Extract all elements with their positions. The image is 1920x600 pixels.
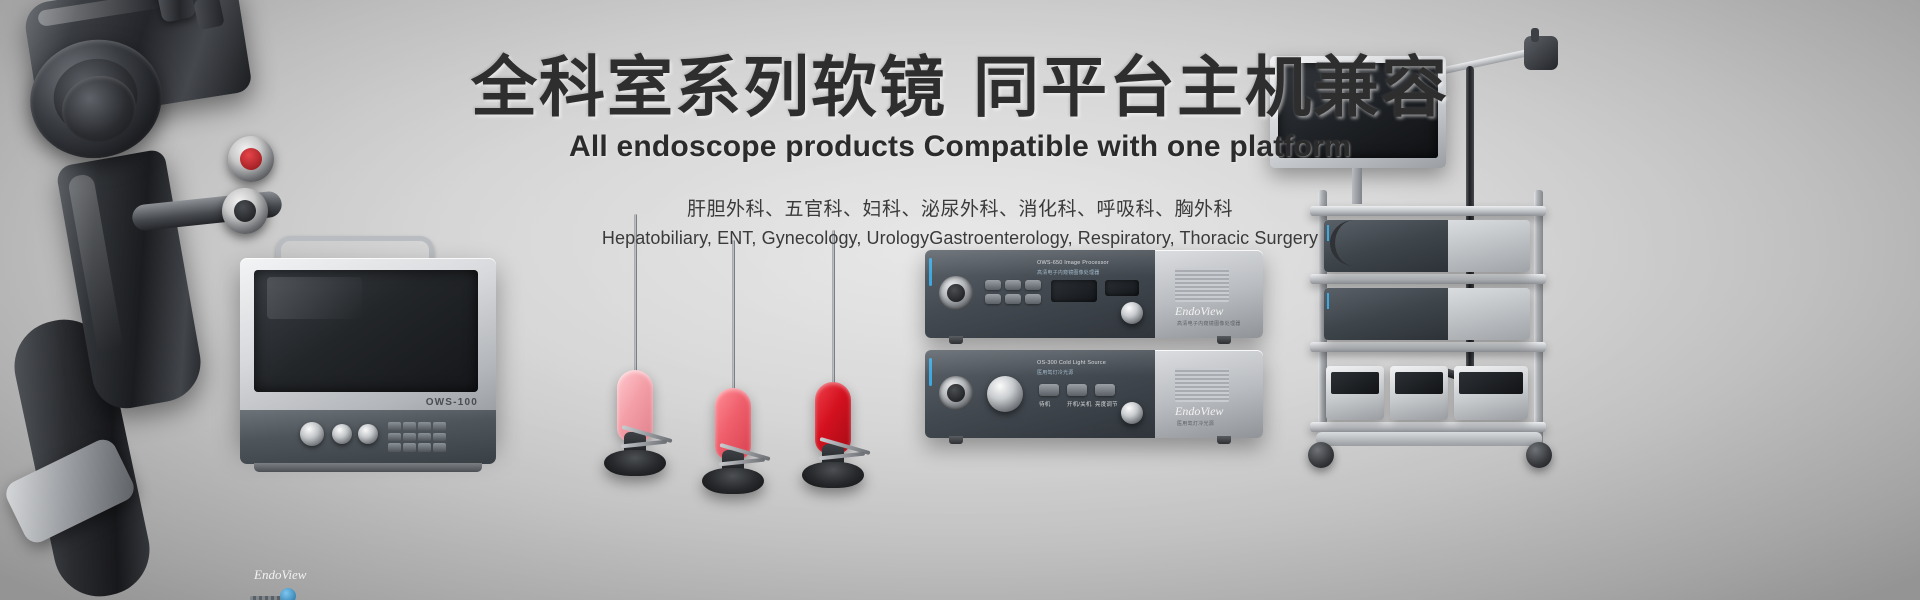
- light-source-button-label-2: 开机/关机: [1067, 400, 1092, 408]
- processor-button-4: [985, 294, 1001, 304]
- light-source-button-power: [1067, 384, 1087, 396]
- banner-copy-block: 全科室系列软镜同平台主机兼容 All endoscope products Co…: [0, 52, 1920, 249]
- processor-button-5: [1005, 294, 1021, 304]
- cart-light-source-face: [1324, 288, 1448, 340]
- ows-keypad: [388, 422, 446, 452]
- image-processor-unit: OWS-650 Image Processor 高清电子内窥镜图像处理器 End…: [925, 250, 1263, 338]
- light-source-vent: [1175, 368, 1229, 402]
- headline-part-1: 全科室系列软镜: [471, 50, 947, 124]
- light-source-foot-right: [1217, 436, 1231, 444]
- light-source-accent-stripe: [929, 358, 932, 386]
- cart-caster-left: [1308, 442, 1334, 468]
- processor-front-panel: OWS-650 Image Processor 高清电子内窥镜图像处理器: [925, 250, 1155, 338]
- light-source-button-lamp: [1095, 384, 1115, 396]
- instrument-shaft: [832, 230, 835, 395]
- cart-light-source-unit: [1324, 288, 1530, 340]
- banner-subheadline: All endoscope products Compatible with o…: [0, 130, 1920, 164]
- laparoscopic-instrument-coral: [688, 250, 778, 500]
- headline-part-2: 同平台主机兼容: [973, 50, 1449, 124]
- ows-model-label: OWS-100: [426, 397, 478, 408]
- processor-main-knob: [1121, 302, 1143, 324]
- processor-brand-tagline: 高清电子内窥镜图像处理器: [1177, 320, 1241, 327]
- cart-accessory-box-3: [1454, 366, 1528, 420]
- cart-shelf-4: [1310, 422, 1546, 432]
- light-source-aux-knob: [1121, 402, 1143, 424]
- processor-button-2: [1005, 280, 1021, 290]
- processor-vent: [1175, 268, 1229, 302]
- banner-headline: 全科室系列软镜同平台主机兼容: [0, 52, 1920, 123]
- instrument-stand-base: [702, 468, 764, 494]
- laparoscopic-instrument-pink: [590, 232, 680, 482]
- instrument-stand-base: [802, 462, 864, 488]
- cart-accessory-box-1: [1326, 366, 1384, 420]
- light-source-foot-left: [949, 436, 963, 444]
- processor-title-en: OWS-650 Image Processor: [1037, 260, 1109, 266]
- light-source-brightness-knob: [987, 376, 1023, 412]
- cart-shelf-3: [1310, 342, 1546, 352]
- instrument-shaft: [732, 240, 735, 400]
- endoview-stacked-units-image: OWS-650 Image Processor 高清电子内窥镜图像处理器 End…: [925, 250, 1270, 450]
- cart-base-platform: [1316, 432, 1542, 446]
- light-source-button-label-1: 待机: [1039, 400, 1050, 408]
- processor-foot-right: [1217, 336, 1231, 344]
- processor-accent-stripe: [929, 258, 932, 286]
- light-source-fiber-port: [939, 376, 973, 410]
- cart-shelf-2: [1310, 274, 1546, 284]
- cart-caster-right: [1526, 442, 1552, 468]
- light-source-unit: OS-300 Cold Light Source 医用氙灯冷光源 待机 开机/关…: [925, 350, 1263, 438]
- processor-brand-logo: EndoView: [1175, 304, 1223, 319]
- light-source-button-label-3: 亮度调节: [1095, 400, 1118, 408]
- light-source-brand-logo: EndoView: [1175, 404, 1223, 419]
- specialties-chinese: 肝胆外科、五官科、妇科、泌尿外科、消化科、呼吸科、胸外科: [0, 194, 1920, 221]
- processor-status-display: [1051, 280, 1097, 302]
- processor-button-3: [1025, 280, 1041, 290]
- product-banner: OWS-100 EndoView: [0, 0, 1920, 600]
- light-source-button-standby: [1039, 384, 1059, 396]
- light-source-brand-tagline: 医用氙灯冷光源: [1177, 420, 1214, 427]
- light-source-title-en: OS-300 Cold Light Source: [1037, 360, 1106, 366]
- processor-button-1: [985, 280, 1001, 290]
- processor-title-cn: 高清电子内窥镜图像处理器: [1037, 269, 1099, 276]
- processor-scope-port: [939, 276, 973, 310]
- laparoscopic-instrument-red: [788, 244, 878, 494]
- processor-button-6: [1025, 294, 1041, 304]
- light-source-front-panel: OS-300 Cold Light Source 医用氙灯冷光源 待机 开机/关…: [925, 350, 1155, 438]
- processor-foot-left: [949, 336, 963, 344]
- processor-usb-slot: [1105, 280, 1139, 296]
- instrument-stand-base: [604, 450, 666, 476]
- endoscope-top-lever-secondary: [193, 0, 225, 30]
- cart-accessory-box-2: [1390, 366, 1448, 420]
- light-source-title-cn: 医用氙灯冷光源: [1037, 369, 1073, 376]
- specialties-english: Hepatobiliary, ENT, Gynecology, UrologyG…: [0, 228, 1920, 249]
